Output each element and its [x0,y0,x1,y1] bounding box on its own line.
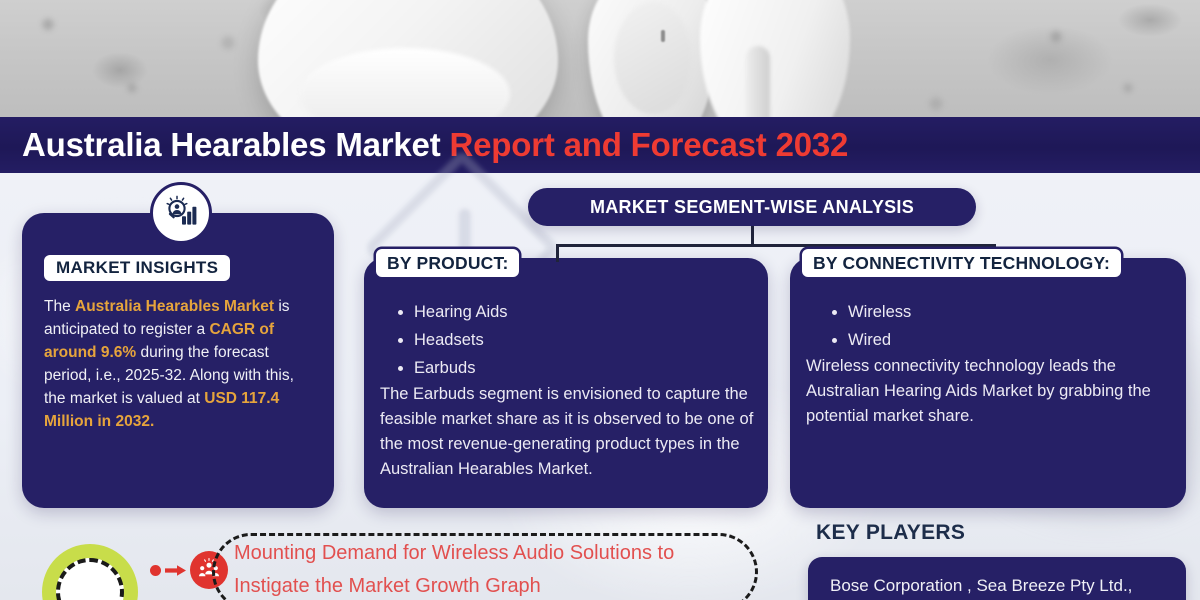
page-title-band: Australia Hearables Market Report and Fo… [0,117,1200,173]
segment-list-by-product: Hearing Aids Headsets Earbuds [364,298,508,382]
growth-callout-text: Mounting Demand for Wireless Audio Solut… [234,537,738,600]
list-item: Hearing Aids [414,298,508,326]
connector-stem [751,226,754,246]
page-title-accent: Report and Forecast 2032 [450,126,849,164]
segment-paragraph-by-connectivity-technology: Wireless connectivity technology leads t… [806,354,1174,429]
page-title: Australia Hearables Market [22,126,441,164]
market-insights-heading: MARKET INSIGHTS [44,255,230,281]
key-players-text: Bose Corporation , Sea Breeze Pty Ltd., [830,573,1174,599]
segment-paragraph-by-product: The Earbuds segment is envisioned to cap… [380,382,756,482]
key-players-card: Bose Corporation , Sea Breeze Pty Ltd., [808,557,1186,600]
market-insights-body: The Australia Hearables Market is antici… [44,295,312,433]
infographic-page: Australia Hearables Market Report and Fo… [0,0,1200,600]
key-players-heading: KEY PLAYERS [816,521,965,545]
red-dot-icon [150,565,161,576]
list-item: Wireless [848,298,911,326]
insights-text-run: Australia Hearables Market [75,298,274,315]
earbud-left-mic-dot [661,30,665,42]
list-item: Earbuds [414,354,508,382]
segment-analysis-header: MARKET SEGMENT-WISE ANALYSIS [528,188,976,226]
connector-horizontal-bar [556,244,996,247]
list-item: Wired [848,326,911,354]
hero-earbuds-photo [0,0,1200,122]
segment-label-by-product: BY PRODUCT: [376,249,519,277]
connector-drop-left [556,244,559,262]
insights-text-run: The [44,298,75,315]
earbud-right-stem [746,46,770,122]
segment-card-by-product: BY PRODUCT: Hearing Aids Headsets Earbud… [364,258,768,508]
list-item: Headsets [414,326,508,354]
segment-label-by-connectivity-technology: BY CONNECTIVITY TECHNOLOGY: [802,249,1121,277]
segment-card-by-connectivity-technology: BY CONNECTIVITY TECHNOLOGY: Wireless Wir… [790,258,1186,508]
magnifier-chart-icon [150,182,212,244]
segment-list-by-connectivity-technology: Wireless Wired [798,298,911,354]
red-arrow-icon [165,563,187,578]
earbud-left-inner [614,2,692,114]
earbud-right [700,0,850,122]
